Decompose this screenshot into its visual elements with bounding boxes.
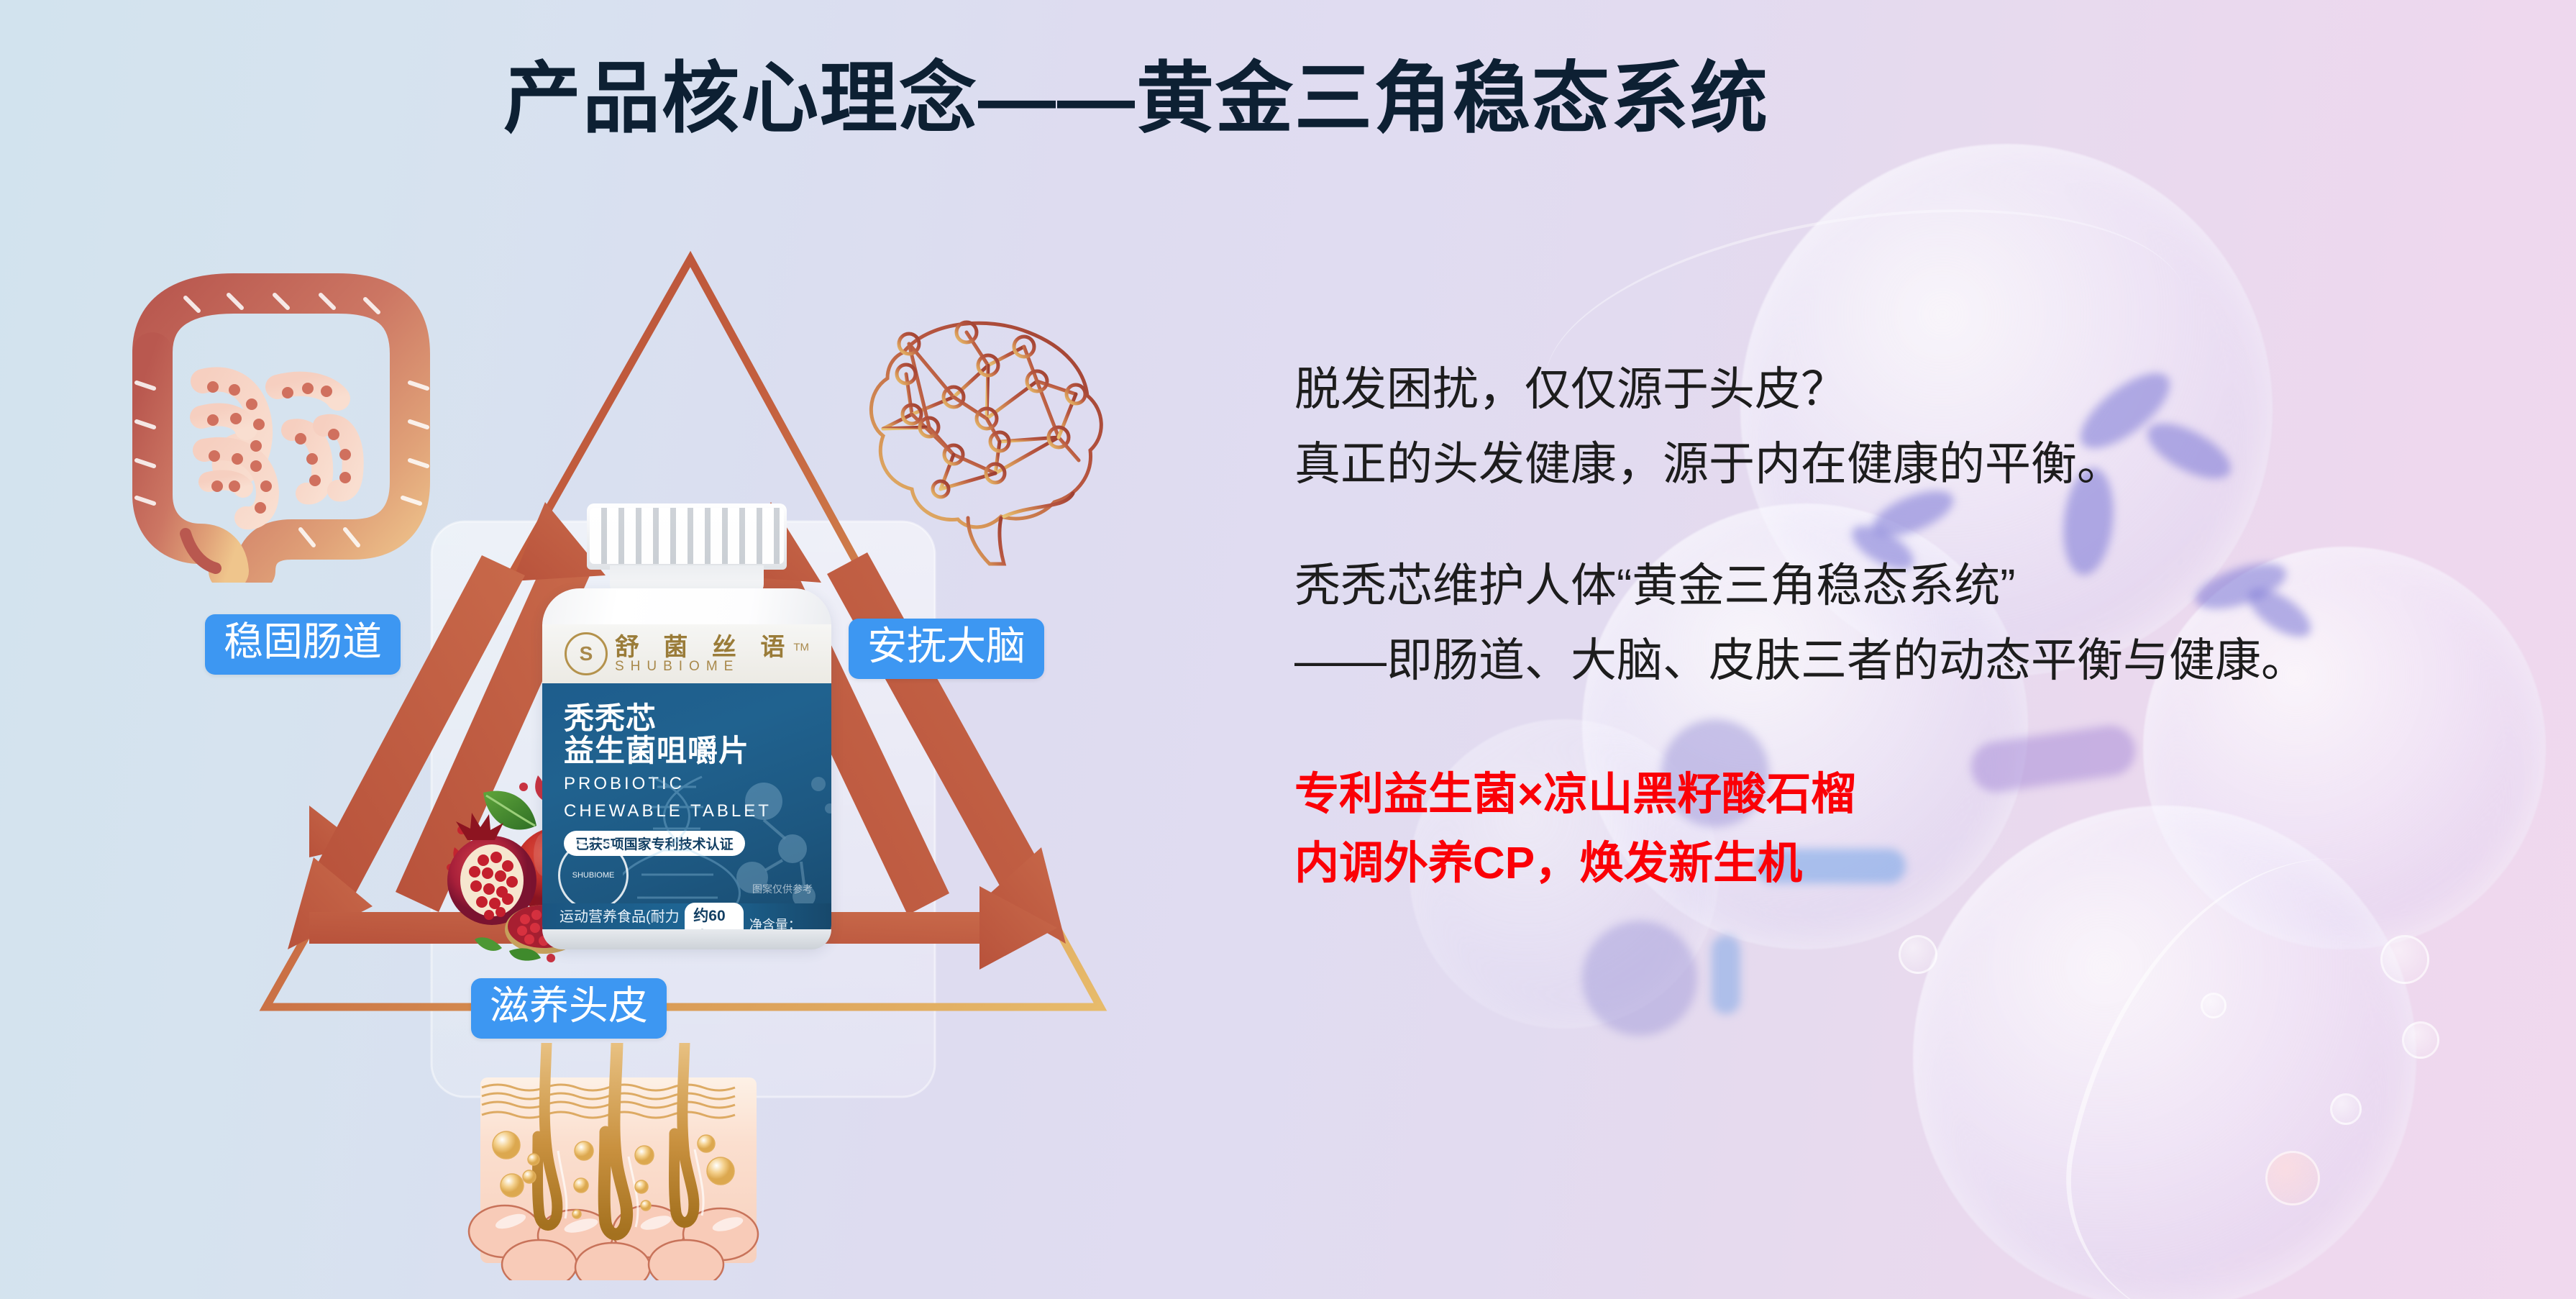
copy-para1-line2: 真正的头发健康，源于内在健康的平衡。	[1294, 427, 2531, 502]
highlight-line1: 专利益生菌×凉山黑籽酸石榴	[1294, 760, 2531, 829]
bubble-shape	[2402, 1021, 2439, 1059]
brand-monogram-icon: S	[565, 632, 608, 675]
copy-para1-line1: 脱发困扰，仅仅源于头皮？	[1294, 352, 2531, 427]
label-gut[interactable]: 稳固肠道	[205, 614, 401, 675]
bubble-shape	[2380, 935, 2429, 984]
label-disclaimer: 图案仅供参考	[752, 882, 813, 896]
product-name-line1: 秃秃芯	[564, 702, 810, 734]
brain-network-icon	[834, 288, 1122, 575]
page-title: 产品核心理念——黄金三角稳态系统	[503, 36, 1769, 148]
copy-para2-line1: 秃秃芯维护人体“黄金三角稳态系统”	[1294, 549, 2531, 624]
label-scalp-text: 滋养头皮	[490, 983, 648, 1028]
label-brain-text: 安抚大脑	[867, 624, 1026, 668]
label-gut-text: 稳固肠道	[224, 619, 382, 664]
bottle-body: S 舒 菌 丝 语TM SHUBIOME 秃秃芯 益生菌咀嚼片 PROBIOTI…	[542, 588, 831, 948]
label-brain[interactable]: 安抚大脑	[849, 619, 1044, 679]
quality-seal-text: SHUBIOME	[572, 871, 615, 880]
bottle-label: 秃秃芯 益生菌咀嚼片 PROBIOTIC CHEWABLE TABLET 已获5…	[542, 683, 831, 948]
scalp-cross-section-icon	[467, 1043, 769, 1280]
highlight-line2: 内调外养CP，焕发新生机	[1294, 829, 2531, 898]
bubble-shape	[2265, 1151, 2320, 1205]
bacteria-shape	[1582, 921, 1697, 1036]
trademark-symbol: TM	[793, 641, 809, 653]
quality-seal: SHUBIOME	[558, 840, 629, 911]
bubble-shape	[1899, 935, 1937, 974]
bottle-base	[542, 929, 831, 949]
bottle-cap	[587, 503, 787, 570]
bubble-shape	[2201, 993, 2226, 1018]
bacteria-shape	[1712, 935, 1740, 1014]
label-scalp[interactable]: 滋养头皮	[471, 978, 667, 1039]
brand-name-cn: 舒 菌 丝 语	[615, 634, 793, 661]
copy-para2-line2: ——即肠道、大脑、皮肤三者的动态平衡与健康。	[1294, 624, 2531, 698]
bubble-shape	[2330, 1093, 2362, 1125]
brand-name-en: SHUBIOME	[615, 660, 809, 673]
product-name-line2: 益生菌咀嚼片	[564, 734, 810, 767]
brand-band: S 舒 菌 丝 语TM SHUBIOME	[542, 624, 831, 683]
intestine-icon	[108, 266, 453, 583]
marketing-copy: 脱发困扰，仅仅源于头皮？ 真正的头发健康，源于内在健康的平衡。 秃秃芯维护人体“…	[1294, 352, 2531, 898]
product-bottle: S 舒 菌 丝 语TM SHUBIOME 秃秃芯 益生菌咀嚼片 PROBIOTI…	[518, 503, 863, 949]
